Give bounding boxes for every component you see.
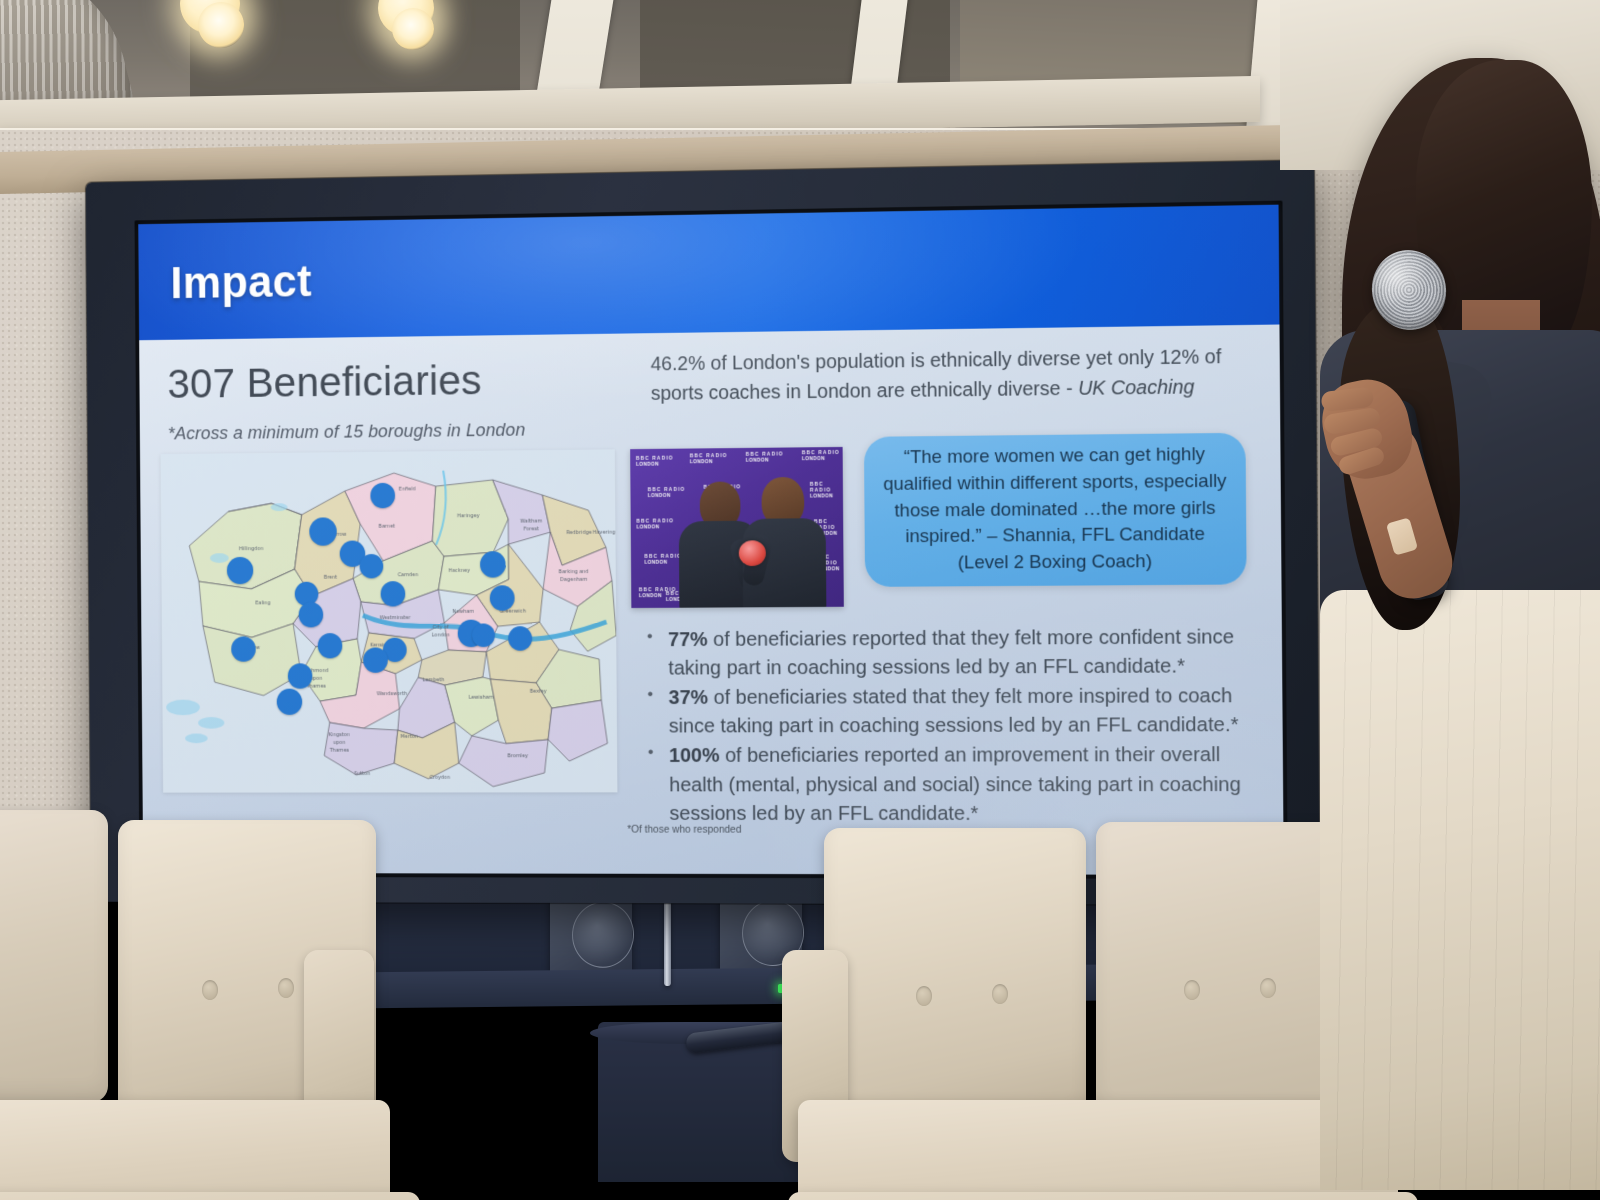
trousers xyxy=(1320,590,1600,1190)
london-boroughs-map: Enfield Barnet Harrow Hillingdon Brent H… xyxy=(161,449,618,792)
svg-text:Wandsworth: Wandsworth xyxy=(377,691,407,697)
svg-text:Enfield: Enfield xyxy=(399,486,416,492)
backdrop-logo-line2: LONDON xyxy=(690,459,713,465)
svg-text:Lambeth: Lambeth xyxy=(423,677,445,683)
slide: Impact 307 Beneficiaries *Across a minim… xyxy=(138,205,1284,875)
backdrop-logo-line2: LONDON xyxy=(636,524,659,530)
cushion-button xyxy=(278,978,294,998)
svg-text:Barking and: Barking and xyxy=(559,569,589,575)
svg-text:Croydon: Croydon xyxy=(430,775,451,781)
svg-text:Westminster: Westminster xyxy=(380,615,412,621)
svg-text:Haringey: Haringey xyxy=(457,513,479,519)
bullet-stat: 37% xyxy=(668,686,708,709)
svg-text:Ealing: Ealing xyxy=(255,600,270,606)
stat-source: UK Coaching xyxy=(1078,376,1195,399)
svg-text:Havering: Havering xyxy=(593,530,616,536)
backdrop-logo-line2: LONDON xyxy=(746,457,769,463)
map-marker xyxy=(380,581,405,606)
bullet-item: 37% of beneficiaries stated that they fe… xyxy=(626,681,1257,740)
svg-text:Kingston: Kingston xyxy=(328,732,349,738)
quote-callout: “The more women we can get highly qualif… xyxy=(864,433,1247,587)
map-marker xyxy=(363,648,388,673)
cushion-button xyxy=(1260,978,1276,998)
svg-text:Merton: Merton xyxy=(400,734,417,740)
backdrop-logo-line2: LONDON xyxy=(802,456,825,462)
cushion-button xyxy=(1184,980,1200,1000)
svg-text:Forest: Forest xyxy=(524,526,539,532)
cushion-button xyxy=(202,980,218,1000)
medal-icon xyxy=(739,540,766,566)
svg-text:Redbridge: Redbridge xyxy=(566,530,591,536)
boroughs-subnote: *Across a minimum of 15 boroughs in Lond… xyxy=(168,419,526,444)
slide-body: 307 Beneficiaries *Across a minimum of 1… xyxy=(139,325,1284,875)
svg-text:Thames: Thames xyxy=(329,748,350,754)
svg-text:upon: upon xyxy=(333,740,345,746)
backdrop-logo-line2: LONDON xyxy=(639,593,662,599)
bullet-text: of beneficiaries reported that they felt… xyxy=(668,625,1234,679)
ceiling-light xyxy=(392,8,434,50)
map-marker xyxy=(226,557,252,584)
svg-text:Bromley: Bromley xyxy=(507,753,528,759)
ceiling-light xyxy=(198,2,244,48)
map-marker xyxy=(317,633,342,658)
backdrop-logo: BBC RADIOLONDON xyxy=(636,457,674,469)
sofa-back-cushion xyxy=(0,810,108,1102)
backdrop-logo: BBC RADIOLONDON xyxy=(690,454,728,466)
bullet-text: of beneficiaries stated that they felt m… xyxy=(669,685,1239,738)
beneficiaries-headline: 307 Beneficiaries xyxy=(167,357,482,409)
presentation-display[interactable]: Impact 307 Beneficiaries *Across a minim… xyxy=(86,160,1320,905)
svg-text:City of: City of xyxy=(433,625,449,631)
backdrop-logo: BBC RADIOLONDON xyxy=(746,452,784,464)
svg-text:Hillingdon: Hillingdon xyxy=(239,546,263,552)
svg-text:Barnet: Barnet xyxy=(379,524,395,530)
sofa-base xyxy=(0,1192,420,1200)
presentation-room-photo: Impact 307 Beneficiaries *Across a minim… xyxy=(0,0,1600,1200)
svg-text:Dagenham: Dagenham xyxy=(560,577,587,583)
bullet-item: 77% of beneficiaries reported that they … xyxy=(626,622,1257,682)
backdrop-logo: BBC RADIOLONDON xyxy=(802,451,840,463)
backdrop-logo: BBC RADIOLONDON xyxy=(644,555,682,567)
sofa-seat xyxy=(0,1100,390,1200)
map-marker xyxy=(310,517,338,545)
backdrop-logo-line2: LONDON xyxy=(648,493,671,499)
bullet-stat: 100% xyxy=(669,745,720,768)
cushion-button xyxy=(916,986,932,1006)
bullet-stat: 77% xyxy=(668,628,708,651)
quote-text: “The more women we can get highly qualif… xyxy=(864,441,1247,578)
sofa-left xyxy=(0,800,510,1200)
backdrop-logo: BBC RADIOLONDON xyxy=(636,519,674,531)
svg-text:London: London xyxy=(432,632,450,638)
slide-title: Impact xyxy=(170,254,312,309)
cushion-button xyxy=(992,984,1008,1004)
svg-text:Hackney: Hackney xyxy=(448,568,469,574)
backdrop-logo-line2: LONDON xyxy=(636,461,659,467)
svg-text:Brent: Brent xyxy=(324,575,337,581)
event-photo: BBC RADIOLONDON BBC RADIOLONDON BBC RADI… xyxy=(630,447,844,608)
svg-text:Camden: Camden xyxy=(398,572,419,578)
coaching-stat-line: 46.2% of London's population is ethnical… xyxy=(651,343,1238,409)
svg-text:Waltham: Waltham xyxy=(520,518,542,524)
presenter xyxy=(1300,0,1600,1200)
slide-header: Impact xyxy=(138,205,1279,341)
map-marker xyxy=(371,482,396,508)
display-panel: Impact 307 Beneficiaries *Across a minim… xyxy=(135,201,1288,879)
map-marker xyxy=(472,623,495,647)
slide-footnote: *Of those who responded xyxy=(627,824,741,836)
sofa-back-cushion xyxy=(824,828,1086,1122)
speaker-cone xyxy=(572,901,634,968)
svg-text:Bexley: Bexley xyxy=(530,689,547,695)
svg-text:Newham: Newham xyxy=(452,609,474,615)
svg-text:Sutton: Sutton xyxy=(354,771,370,777)
svg-text:Lewisham: Lewisham xyxy=(469,695,494,701)
impact-bullet-list: 77% of beneficiaries reported that they … xyxy=(626,622,1258,828)
backdrop-logo-line2: LONDON xyxy=(644,559,667,565)
